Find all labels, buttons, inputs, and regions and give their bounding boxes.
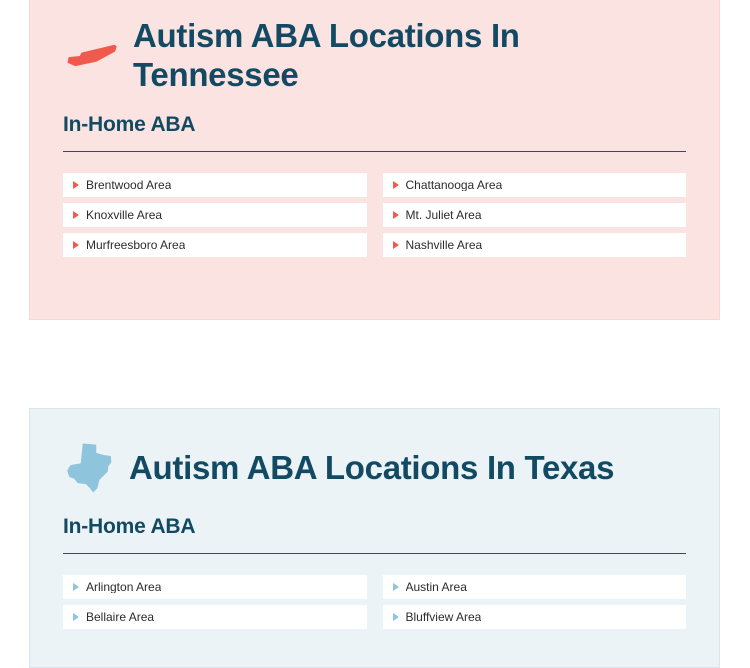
list-item[interactable]: Nashville Area	[383, 233, 687, 257]
location-label: Murfreesboro Area	[86, 239, 185, 251]
panel-header-tennessee: Autism ABA Locations In Tennessee	[63, 17, 686, 95]
location-label: Chattanooga Area	[406, 179, 503, 191]
location-label: Mt. Juliet Area	[406, 209, 482, 221]
location-label: Bluffview Area	[406, 611, 482, 623]
location-label: Bellaire Area	[86, 611, 154, 623]
location-label: Brentwood Area	[86, 179, 171, 191]
location-grid-texas: Arlington Area Austin Area Bellaire Area…	[63, 575, 686, 629]
location-label: Arlington Area	[86, 581, 161, 593]
state-panel-texas: Autism ABA Locations In Texas In-Home AB…	[29, 408, 720, 668]
triangle-right-icon	[393, 241, 399, 249]
triangle-right-icon	[73, 241, 79, 249]
list-item[interactable]: Mt. Juliet Area	[383, 203, 687, 227]
location-label: Knoxville Area	[86, 209, 162, 221]
list-item[interactable]: Knoxville Area	[63, 203, 367, 227]
location-label: Austin Area	[406, 581, 467, 593]
state-panel-tennessee: Autism ABA Locations In Tennessee In-Hom…	[29, 0, 720, 320]
tennessee-state-shape-icon	[63, 28, 119, 84]
location-label: Nashville Area	[406, 239, 483, 251]
list-item[interactable]: Bellaire Area	[63, 605, 367, 629]
triangle-right-icon	[393, 583, 399, 591]
list-item[interactable]: Arlington Area	[63, 575, 367, 599]
triangle-right-icon	[73, 181, 79, 189]
list-item[interactable]: Austin Area	[383, 575, 687, 599]
subsection-title-tennessee: In-Home ABA	[63, 113, 686, 137]
list-item[interactable]: Bluffview Area	[383, 605, 687, 629]
list-item[interactable]: Brentwood Area	[63, 173, 367, 197]
list-item[interactable]: Chattanooga Area	[383, 173, 687, 197]
triangle-right-icon	[393, 613, 399, 621]
location-grid-tennessee: Brentwood Area Chattanooga Area Knoxvill…	[63, 173, 686, 257]
triangle-right-icon	[73, 211, 79, 219]
panel-header-texas: Autism ABA Locations In Texas	[63, 439, 686, 497]
list-item[interactable]: Murfreesboro Area	[63, 233, 367, 257]
page-title-texas: Autism ABA Locations In Texas	[129, 449, 614, 488]
triangle-right-icon	[393, 211, 399, 219]
page-title-tennessee: Autism ABA Locations In Tennessee	[133, 17, 563, 95]
triangle-right-icon	[73, 583, 79, 591]
subsection-title-texas: In-Home ABA	[63, 515, 686, 539]
section-divider-texas	[63, 553, 686, 554]
locations-page: Autism ABA Locations In Tennessee In-Hom…	[0, 0, 750, 628]
triangle-right-icon	[393, 181, 399, 189]
triangle-right-icon	[73, 613, 79, 621]
texas-state-shape-icon	[63, 439, 115, 497]
section-divider-tennessee	[63, 151, 686, 152]
